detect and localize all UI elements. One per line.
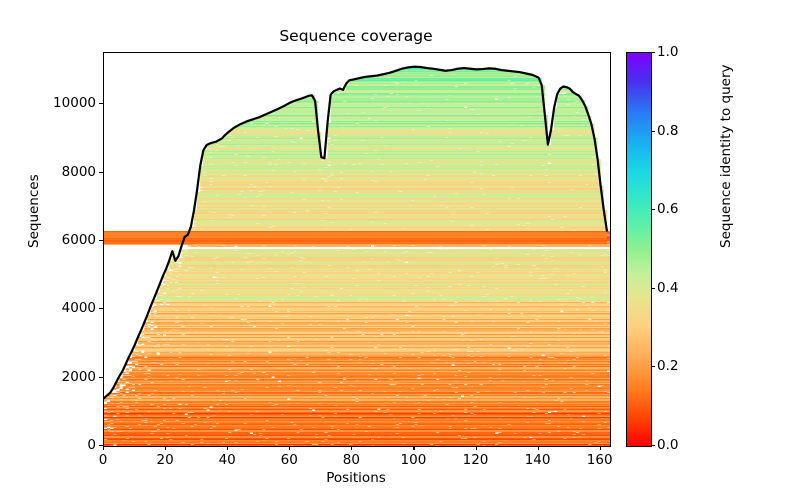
x-tick-mark <box>476 446 477 450</box>
x-tick-mark <box>227 446 228 450</box>
colorbar-tick-label: 0.2 <box>657 358 678 374</box>
colorbar-tick-mark <box>651 288 655 289</box>
x-tick-mark <box>600 446 601 450</box>
colorbar-tick-mark <box>651 366 655 367</box>
colorbar-tick-label: 0.8 <box>657 123 678 139</box>
plot-area <box>103 52 611 447</box>
colorbar-tick-mark <box>651 209 655 210</box>
coverage-line <box>104 53 610 446</box>
y-tick-label: 2000 <box>62 369 96 385</box>
figure-canvas: Sequence coverage 020406080100120140160 … <box>0 0 800 500</box>
colorbar-tick-mark <box>651 52 655 53</box>
x-tick-label: 100 <box>401 452 427 468</box>
y-tick-mark <box>99 103 103 104</box>
colorbar-tick-mark <box>651 445 655 446</box>
y-tick-mark <box>99 445 103 446</box>
x-tick-label: 120 <box>463 452 489 468</box>
x-tick-label: 20 <box>156 452 173 468</box>
colorbar-tick-label: 0.6 <box>657 201 678 217</box>
colorbar-tick-label: 0.0 <box>657 437 678 453</box>
y-tick-mark <box>99 172 103 173</box>
x-tick-mark <box>103 446 104 450</box>
y-tick-label: 0 <box>87 437 96 453</box>
x-tick-label: 0 <box>99 452 108 468</box>
y-tick-label: 6000 <box>62 232 96 248</box>
y-tick-label: 8000 <box>62 164 96 180</box>
y-tick-label: 10000 <box>53 95 96 111</box>
chart-title: Sequence coverage <box>103 27 609 45</box>
x-tick-label: 140 <box>525 452 551 468</box>
x-tick-mark <box>351 446 352 450</box>
y-tick-mark <box>99 377 103 378</box>
colorbar-label: Sequence identity to query <box>718 65 734 249</box>
x-axis-label: Positions <box>103 470 609 486</box>
x-tick-mark <box>413 446 414 450</box>
colorbar-tick-mark <box>651 131 655 132</box>
x-tick-mark <box>538 446 539 450</box>
x-tick-mark <box>289 446 290 450</box>
x-tick-mark <box>165 446 166 450</box>
colorbar-tick-label: 0.4 <box>657 280 678 296</box>
y-tick-mark <box>99 308 103 309</box>
x-tick-label: 40 <box>219 452 236 468</box>
x-tick-label: 80 <box>343 452 360 468</box>
colorbar-tick-label: 1.0 <box>657 44 678 60</box>
y-axis-label: Sequences <box>26 174 42 248</box>
x-tick-label: 60 <box>281 452 298 468</box>
y-tick-label: 4000 <box>62 300 96 316</box>
x-tick-label: 160 <box>587 452 613 468</box>
y-tick-mark <box>99 240 103 241</box>
colorbar-gradient <box>626 52 652 447</box>
